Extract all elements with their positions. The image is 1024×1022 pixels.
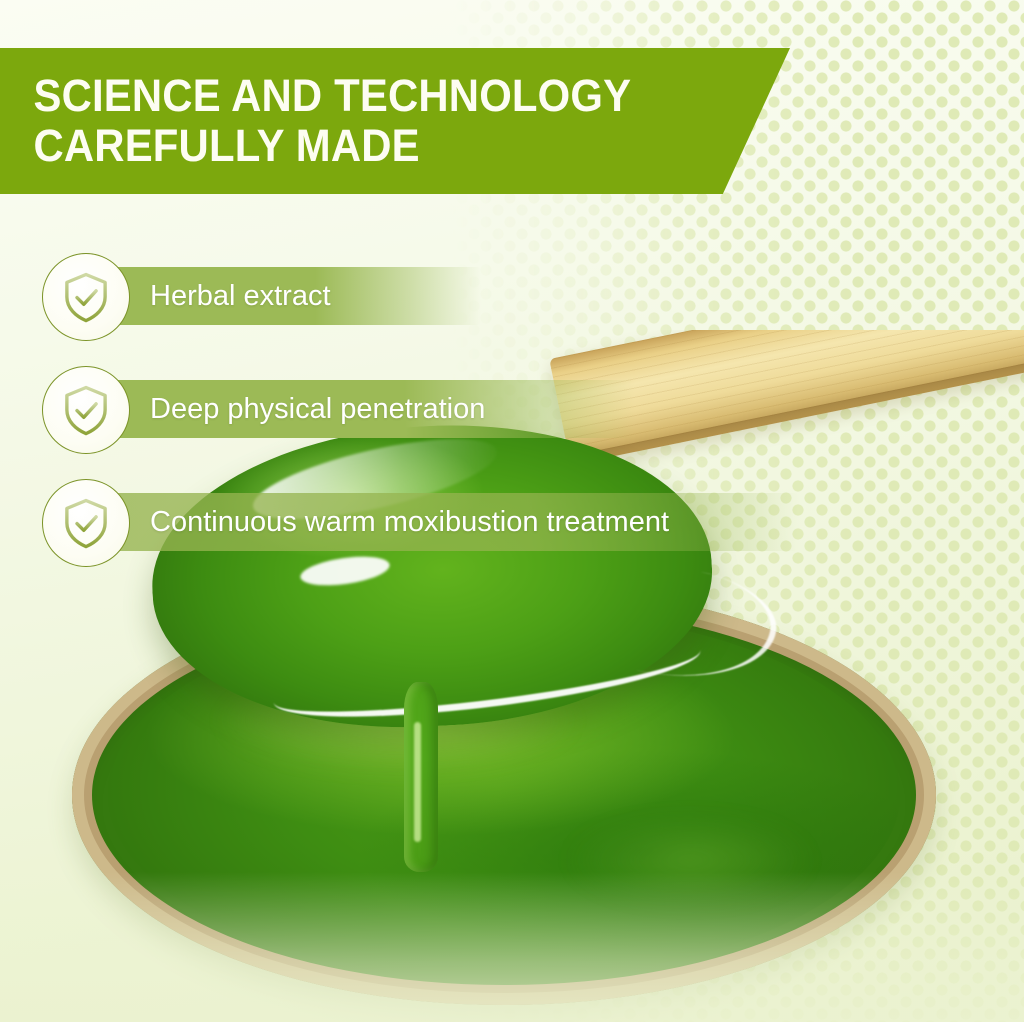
- shield-check-icon: [42, 479, 130, 567]
- feature-item: Deep physical penetration: [0, 366, 1024, 454]
- feature-list: Herbal extract Deep physical penetr: [0, 253, 1024, 592]
- paste-drip: [404, 682, 438, 872]
- feature-item: Continuous warm moxibustion treatment: [0, 479, 1024, 567]
- feature-label: Continuous warm moxibustion treatment: [150, 508, 669, 537]
- shield-check-icon: [42, 253, 130, 341]
- feature-pill: Continuous warm moxibustion treatment: [86, 493, 799, 551]
- product-feature-poster: SCIENCE AND TECHNOLOGY CAREFULLY MADE He…: [0, 0, 1024, 1022]
- pool-highlight-secondary: [520, 800, 860, 920]
- feature-label: Deep physical penetration: [150, 395, 485, 424]
- shield-check-icon: [42, 366, 130, 454]
- feature-label: Herbal extract: [150, 282, 331, 311]
- drip-highlight: [414, 722, 421, 842]
- page-title: SCIENCE AND TECHNOLOGY CAREFULLY MADE: [0, 71, 631, 172]
- feature-item: Herbal extract: [0, 253, 1024, 341]
- header-banner: SCIENCE AND TECHNOLOGY CAREFULLY MADE: [0, 48, 790, 194]
- feature-pill: Deep physical penetration: [86, 380, 635, 438]
- feature-pill: Herbal extract: [86, 267, 481, 325]
